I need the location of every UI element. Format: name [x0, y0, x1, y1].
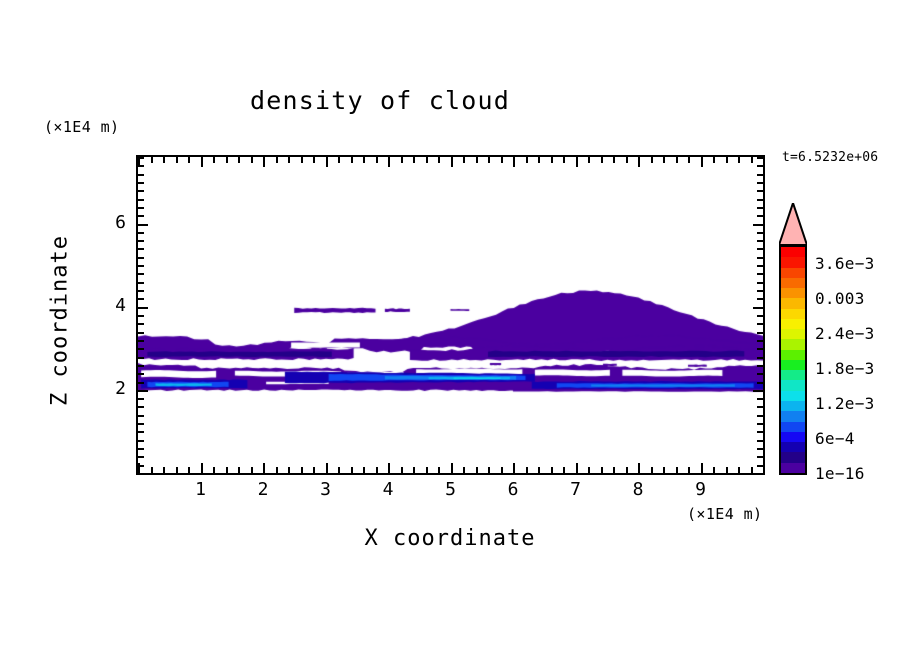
tick-mark: [138, 248, 144, 250]
tick-mark: [753, 224, 763, 226]
tick-mark: [213, 157, 215, 163]
tick-mark: [413, 157, 415, 163]
tick-mark: [763, 157, 765, 167]
tick-mark: [138, 456, 144, 458]
tick-mark: [753, 473, 763, 475]
tick-mark: [451, 157, 453, 167]
y-tick-label-6: 6: [100, 212, 126, 233]
colorbar-band-15: [781, 401, 805, 411]
tick-mark: [763, 463, 765, 473]
tick-mark: [757, 290, 763, 292]
colorbar-label-5: 6e−4: [815, 429, 855, 448]
tick-mark: [757, 165, 763, 167]
x-tick-label-2: 2: [248, 479, 278, 500]
tick-mark: [601, 157, 603, 163]
tick-mark: [757, 157, 763, 159]
tick-mark: [138, 174, 144, 176]
tick-mark: [626, 157, 628, 163]
page-title: density of cloud: [0, 86, 760, 115]
tick-mark: [138, 257, 144, 259]
tick-mark: [757, 190, 763, 192]
tick-mark: [551, 467, 553, 473]
tick-mark: [757, 207, 763, 209]
tick-mark: [488, 467, 490, 473]
tick-mark: [138, 382, 144, 384]
tick-mark: [501, 157, 503, 163]
tick-mark: [726, 467, 728, 473]
tick-mark: [338, 157, 340, 163]
tick-mark: [351, 157, 353, 163]
tick-mark: [276, 157, 278, 163]
tick-mark: [138, 315, 144, 317]
tick-mark: [138, 323, 144, 325]
x-tick-label-3: 3: [311, 479, 341, 500]
colorbar-band-8: [781, 329, 805, 339]
tick-mark: [138, 199, 144, 201]
tick-mark: [238, 467, 240, 473]
tick-mark: [388, 157, 390, 167]
colorbar-band-10: [781, 350, 805, 360]
tick-mark: [513, 463, 515, 473]
x-tick-label-7: 7: [561, 479, 591, 500]
tick-mark: [757, 440, 763, 442]
colorbar-band-7: [781, 319, 805, 329]
tick-mark: [138, 348, 144, 350]
tick-mark: [663, 467, 665, 473]
tick-mark: [138, 265, 144, 267]
tick-mark: [738, 157, 740, 163]
y-axis-title: Z coordinate: [48, 201, 73, 441]
tick-mark: [451, 463, 453, 473]
tick-mark: [138, 373, 144, 375]
tick-mark: [538, 157, 540, 163]
tick-mark: [526, 157, 528, 163]
tick-mark: [463, 157, 465, 163]
tick-mark: [288, 467, 290, 473]
tick-mark: [676, 157, 678, 163]
colorbar-band-13: [781, 380, 805, 390]
tick-mark: [688, 157, 690, 163]
tick-mark: [426, 157, 428, 163]
tick-mark: [751, 157, 753, 163]
tick-mark: [138, 415, 144, 417]
colorbar-label-0: 3.6e−3: [815, 254, 875, 273]
tick-mark: [138, 390, 148, 392]
tick-mark: [757, 456, 763, 458]
tick-mark: [176, 467, 178, 473]
tick-mark: [688, 467, 690, 473]
tick-mark: [363, 467, 365, 473]
colorbar-band-19: [781, 442, 805, 452]
tick-mark: [376, 467, 378, 473]
colorbar-band-1: [781, 257, 805, 267]
colorbar-band-21: [781, 463, 805, 473]
tick-mark: [326, 463, 328, 473]
tick-mark: [238, 157, 240, 163]
tick-mark: [613, 157, 615, 163]
x-tick-label-1: 1: [186, 479, 216, 500]
tick-mark: [757, 215, 763, 217]
tick-mark: [563, 157, 565, 163]
tick-mark: [757, 448, 763, 450]
tick-mark: [701, 463, 703, 473]
tick-mark: [138, 448, 144, 450]
tick-mark: [201, 463, 203, 473]
tick-mark: [138, 398, 144, 400]
colorbar-band-0: [781, 247, 805, 257]
contour-field: [138, 157, 763, 473]
tick-mark: [526, 467, 528, 473]
colorbar-band-12: [781, 370, 805, 380]
tick-mark: [288, 157, 290, 163]
tick-mark: [351, 467, 353, 473]
tick-mark: [757, 248, 763, 250]
tick-mark: [301, 467, 303, 473]
tick-mark: [376, 157, 378, 163]
colorbar-label-1: 0.003: [815, 289, 865, 308]
plot-canvas: density of cloud (×1E4 m) (×1E4 m) t=6.5…: [0, 0, 904, 654]
tick-mark: [226, 467, 228, 473]
tick-mark: [138, 165, 144, 167]
colorbar[interactable]: [779, 245, 807, 475]
colorbar-band-9: [781, 339, 805, 349]
colorbar-band-2: [781, 268, 805, 278]
tick-mark: [757, 415, 763, 417]
colorbar-band-6: [781, 309, 805, 319]
x-tick-label-9: 9: [686, 479, 716, 500]
plot-frame: [136, 155, 765, 475]
tick-mark: [757, 298, 763, 300]
tick-mark: [401, 157, 403, 163]
y-tick-label-4: 4: [100, 295, 126, 316]
tick-mark: [138, 273, 144, 275]
tick-mark: [213, 467, 215, 473]
colorbar-label-4: 1.2e−3: [815, 394, 875, 413]
tick-mark: [338, 467, 340, 473]
tick-mark: [713, 467, 715, 473]
tick-mark: [488, 157, 490, 163]
tick-mark: [313, 157, 315, 163]
tick-mark: [757, 257, 763, 259]
tick-mark: [738, 467, 740, 473]
tick-mark: [138, 290, 144, 292]
tick-mark: [626, 467, 628, 473]
tick-mark: [757, 465, 763, 467]
tick-mark: [138, 365, 144, 367]
tick-mark: [613, 467, 615, 473]
tick-mark: [163, 467, 165, 473]
tick-mark: [138, 240, 144, 242]
tick-mark: [676, 467, 678, 473]
tick-mark: [501, 467, 503, 473]
colorbar-band-3: [781, 278, 805, 288]
tick-mark: [651, 157, 653, 163]
tick-mark: [138, 357, 144, 359]
x-tick-label-6: 6: [498, 479, 528, 500]
tick-mark: [513, 157, 515, 167]
tick-mark: [757, 273, 763, 275]
tick-mark: [363, 157, 365, 163]
tick-mark: [138, 182, 144, 184]
tick-mark: [576, 157, 578, 167]
tick-mark: [151, 157, 153, 163]
tick-mark: [563, 467, 565, 473]
colorbar-arrow-cap: [779, 203, 807, 245]
tick-mark: [757, 431, 763, 433]
colorbar-band-4: [781, 288, 805, 298]
tick-mark: [401, 467, 403, 473]
tick-mark: [757, 382, 763, 384]
tick-mark: [138, 157, 144, 159]
colorbar-band-18: [781, 432, 805, 442]
tick-mark: [163, 157, 165, 163]
tick-mark: [138, 440, 144, 442]
tick-mark: [138, 473, 148, 475]
tick-mark: [176, 157, 178, 163]
x-tick-label-8: 8: [623, 479, 653, 500]
tick-mark: [251, 157, 253, 163]
tick-mark: [426, 467, 428, 473]
colorbar-band-17: [781, 422, 805, 432]
x-axis-title: X coordinate: [250, 526, 650, 551]
y-axis-unit-label: (×1E4 m): [44, 118, 119, 136]
tick-mark: [757, 174, 763, 176]
tick-mark: [757, 240, 763, 242]
tick-mark: [757, 182, 763, 184]
tick-mark: [757, 348, 763, 350]
tick-mark: [226, 157, 228, 163]
tick-mark: [757, 373, 763, 375]
colorbar-band-11: [781, 360, 805, 370]
tick-mark: [251, 467, 253, 473]
tick-mark: [463, 467, 465, 473]
tick-mark: [757, 406, 763, 408]
tick-mark: [588, 467, 590, 473]
tick-mark: [276, 467, 278, 473]
tick-mark: [138, 423, 144, 425]
tick-mark: [757, 282, 763, 284]
tick-mark: [638, 463, 640, 473]
tick-mark: [138, 332, 144, 334]
tick-mark: [757, 357, 763, 359]
x-tick-label-4: 4: [373, 479, 403, 500]
colorbar-band-5: [781, 298, 805, 308]
tick-mark: [138, 190, 144, 192]
tick-mark: [753, 307, 763, 309]
tick-mark: [701, 157, 703, 167]
tick-mark: [138, 431, 144, 433]
colorbar-label-6: 1e−16: [815, 464, 865, 483]
tick-mark: [438, 467, 440, 473]
x-axis-unit-label: (×1E4 m): [687, 505, 762, 523]
tick-mark: [538, 467, 540, 473]
y-tick-label-2: 2: [100, 378, 126, 399]
tick-mark: [138, 215, 144, 217]
tick-mark: [138, 282, 144, 284]
tick-mark: [726, 157, 728, 163]
tick-mark: [651, 467, 653, 473]
tick-mark: [713, 157, 715, 163]
tick-mark: [757, 340, 763, 342]
tick-mark: [263, 463, 265, 473]
tick-mark: [757, 265, 763, 267]
tick-mark: [138, 465, 144, 467]
tick-mark: [301, 157, 303, 163]
tick-mark: [138, 224, 148, 226]
tick-mark: [757, 199, 763, 201]
colorbar-label-3: 1.8e−3: [815, 359, 875, 378]
tick-mark: [138, 340, 144, 342]
tick-mark: [326, 157, 328, 167]
tick-mark: [551, 157, 553, 163]
tick-mark: [138, 207, 144, 209]
tick-mark: [201, 157, 203, 167]
tick-mark: [757, 423, 763, 425]
tick-mark: [757, 315, 763, 317]
tick-mark: [638, 157, 640, 167]
colorbar-band-20: [781, 452, 805, 462]
colorbar-band-14: [781, 391, 805, 401]
tick-mark: [588, 157, 590, 163]
tick-mark: [138, 307, 148, 309]
tick-mark: [663, 157, 665, 163]
tick-mark: [151, 467, 153, 473]
tick-mark: [601, 467, 603, 473]
tick-mark: [138, 298, 144, 300]
colorbar-label-2: 2.4e−3: [815, 324, 875, 343]
tick-mark: [757, 398, 763, 400]
tick-mark: [576, 463, 578, 473]
tick-mark: [757, 365, 763, 367]
colorbar-band-16: [781, 411, 805, 421]
tick-mark: [476, 467, 478, 473]
tick-mark: [388, 463, 390, 473]
timestamp-annotation: t=6.5232e+06: [782, 150, 878, 165]
tick-mark: [438, 157, 440, 163]
tick-mark: [476, 157, 478, 163]
tick-mark: [757, 323, 763, 325]
tick-mark: [757, 232, 763, 234]
tick-mark: [313, 467, 315, 473]
tick-mark: [188, 157, 190, 163]
tick-mark: [757, 332, 763, 334]
tick-mark: [188, 467, 190, 473]
tick-mark: [138, 406, 144, 408]
x-tick-label-5: 5: [436, 479, 466, 500]
tick-mark: [753, 390, 763, 392]
tick-mark: [413, 467, 415, 473]
tick-mark: [263, 157, 265, 167]
tick-mark: [138, 232, 144, 234]
